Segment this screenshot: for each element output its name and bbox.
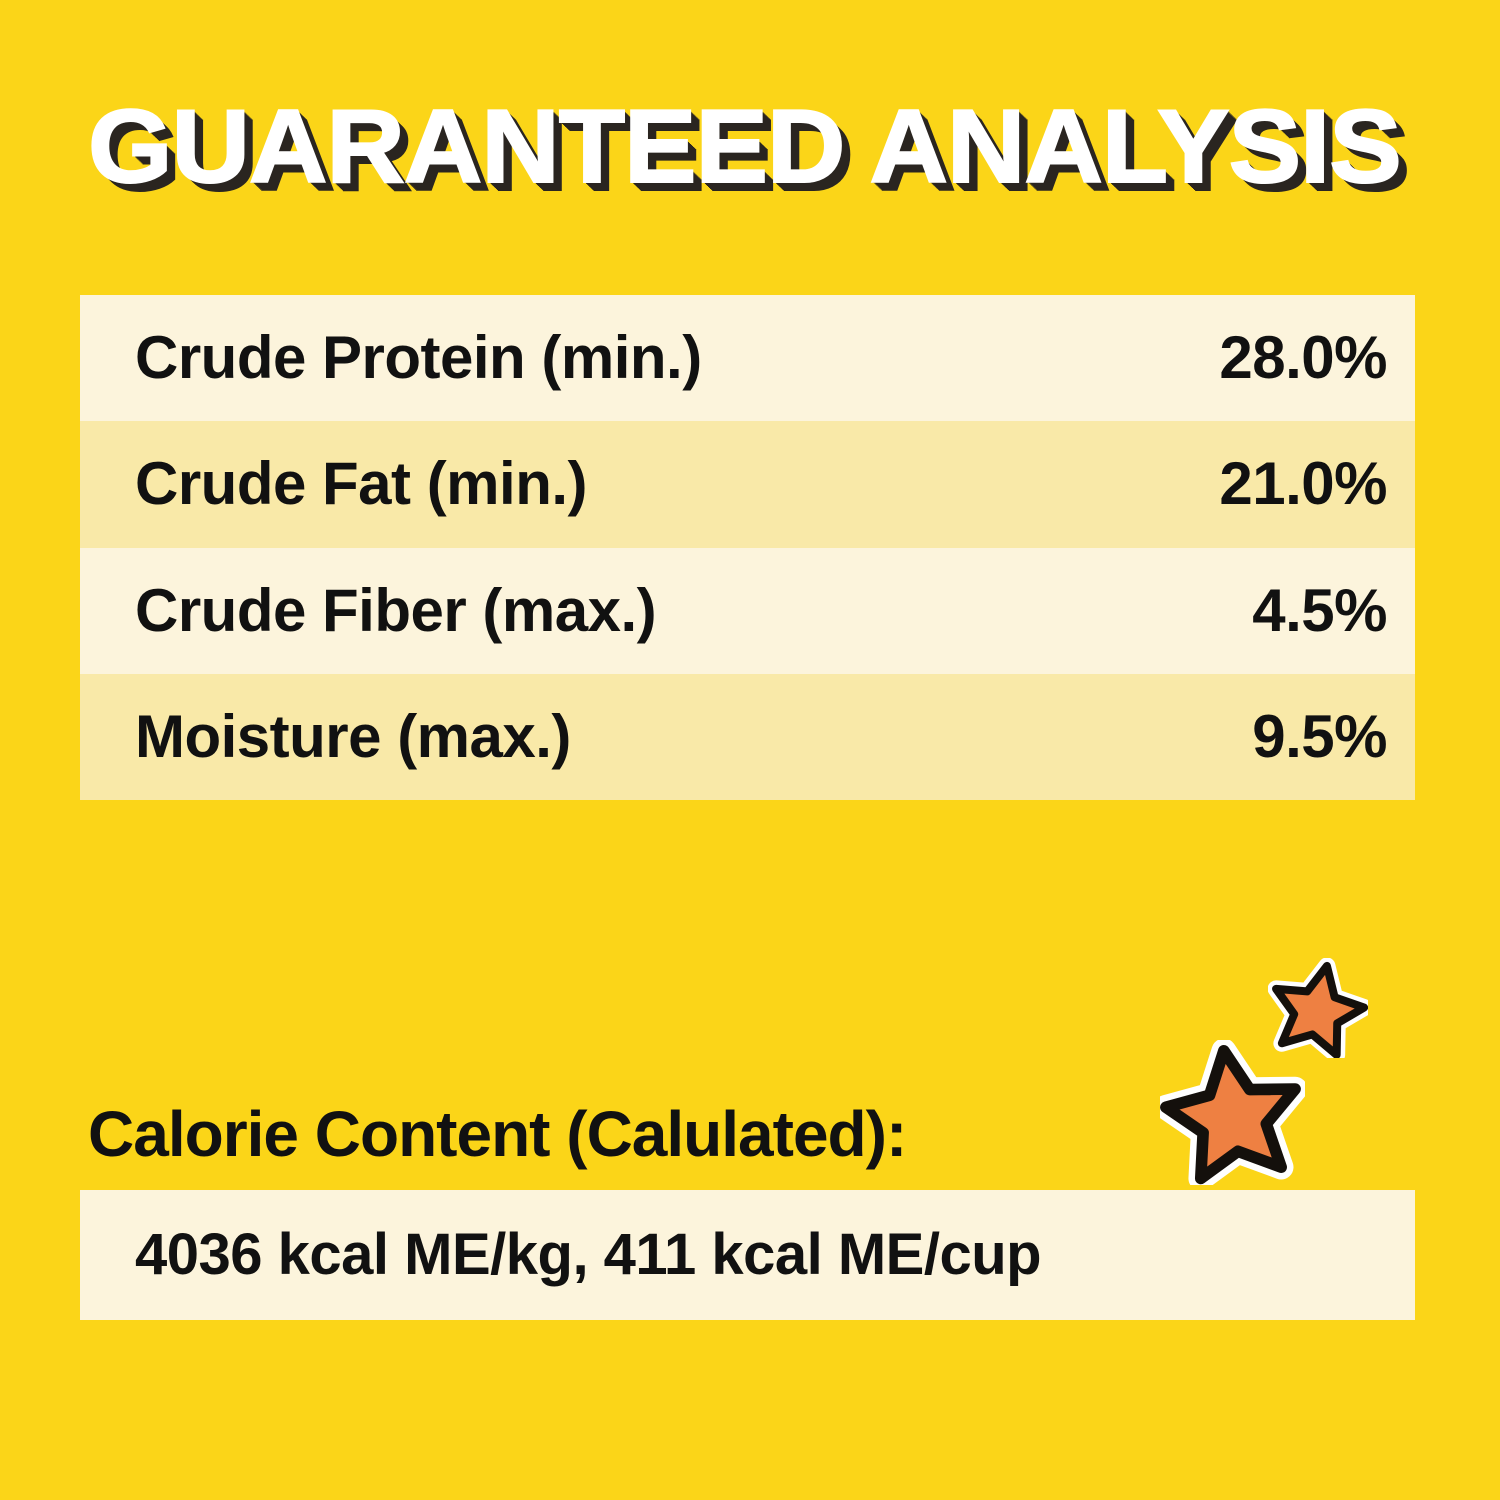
calorie-content-box: 4036 kcal ME/kg, 411 kcal ME/cup — [80, 1190, 1415, 1320]
nutrient-label: Crude Protein (min.) — [135, 327, 702, 389]
nutrient-value: 4.5% — [1252, 580, 1387, 642]
nutrient-label: Crude Fiber (max.) — [135, 580, 656, 642]
page-title-text: GUARANTEED ANALYSIS — [88, 88, 1478, 206]
star-icon — [1160, 1040, 1305, 1185]
table-row: Moisture (max.) 9.5% — [80, 674, 1415, 800]
guaranteed-analysis-table: Crude Protein (min.) 28.0% Crude Fat (mi… — [80, 295, 1415, 800]
page-title: GUARANTEED ANALYSIS — [88, 88, 1418, 208]
nutrient-value: 28.0% — [1219, 327, 1387, 389]
guaranteed-analysis-panel: GUARANTEED ANALYSIS Crude Protein (min.)… — [0, 0, 1500, 1500]
calorie-content-value: 4036 kcal ME/kg, 411 kcal ME/cup — [135, 1224, 1041, 1286]
nutrient-value: 21.0% — [1219, 453, 1387, 515]
nutrient-value: 9.5% — [1252, 706, 1387, 768]
table-row: Crude Protein (min.) 28.0% — [80, 295, 1415, 421]
nutrient-label: Crude Fat (min.) — [135, 453, 587, 515]
table-row: Crude Fiber (max.) 4.5% — [80, 548, 1415, 674]
table-row: Crude Fat (min.) 21.0% — [80, 421, 1415, 547]
nutrient-label: Moisture (max.) — [135, 706, 571, 768]
calorie-content-heading: Calorie Content (Calulated): — [88, 1098, 906, 1170]
